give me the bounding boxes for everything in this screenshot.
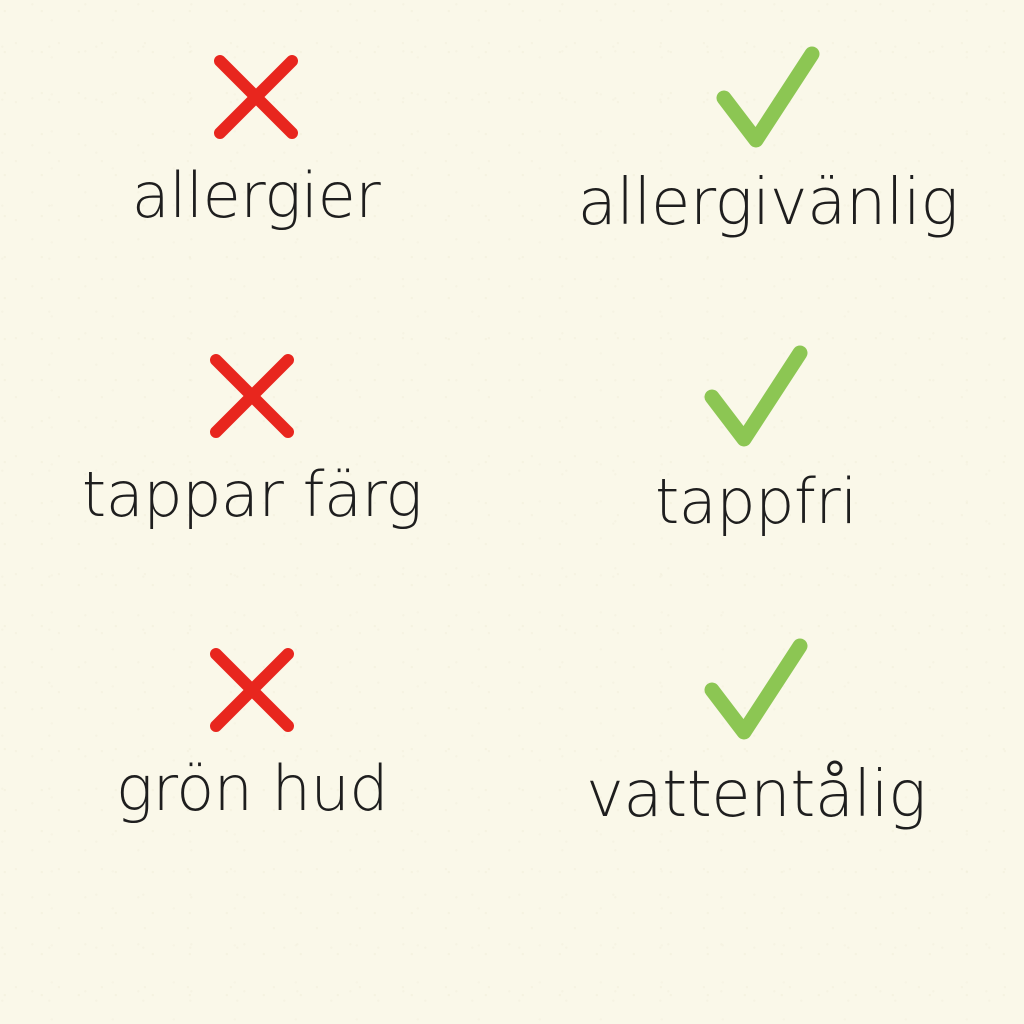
check-icon (712, 42, 824, 158)
comparison-label-positive-2: tappfri (655, 465, 857, 538)
comparison-label-negative-2: tappar färg (82, 458, 422, 531)
cross-icon (204, 642, 300, 738)
cross-icon (204, 348, 300, 444)
comparison-label-negative-3: grön hud (116, 752, 388, 825)
cross-icon (208, 49, 304, 145)
comparison-grid: allergier allergivänlig (0, 0, 1024, 880)
check-icon (700, 341, 812, 457)
comparison-cell-positive-1: allergivänlig (512, 0, 1024, 293)
comparison-cell-negative-2: tappar färg (0, 293, 512, 586)
check-icon (700, 634, 812, 750)
comparison-cell-negative-1: allergier (0, 0, 512, 293)
comparison-label-positive-3: vattentålig (586, 758, 926, 832)
comparison-cell-positive-3: vattentålig (512, 587, 1024, 880)
comparison-label-positive-1: allergivänlig (578, 166, 959, 240)
comparison-label-negative-1: allergier (132, 159, 381, 232)
comparison-cell-negative-3: grön hud (0, 587, 512, 880)
comparison-cell-positive-2: tappfri (512, 293, 1024, 586)
comparison-graphic: allergier allergivänlig (0, 0, 1024, 1024)
